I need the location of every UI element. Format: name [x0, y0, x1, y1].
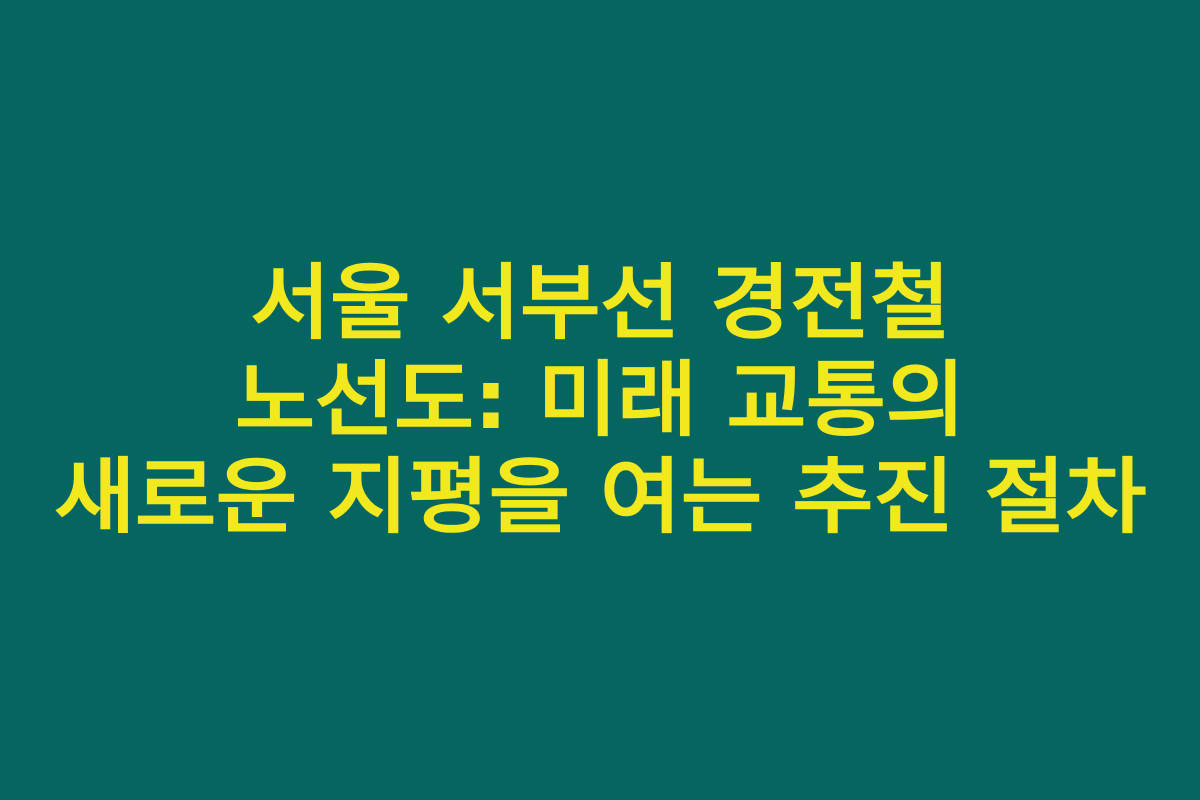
banner-title-line-1: 서울 서부선 경전철 — [0, 255, 1200, 352]
banner-title-line-2: 노선도: 미래 교통의 — [0, 352, 1200, 449]
banner-title-block: 서울 서부선 경전철 노선도: 미래 교통의 새로운 지평을 여는 추진 절차 — [20, 255, 1180, 546]
banner-root: 서울 서부선 경전철 노선도: 미래 교통의 새로운 지평을 여는 추진 절차 — [0, 0, 1200, 800]
banner-title-line-3: 새로운 지평을 여는 추진 절차 — [0, 449, 1200, 546]
